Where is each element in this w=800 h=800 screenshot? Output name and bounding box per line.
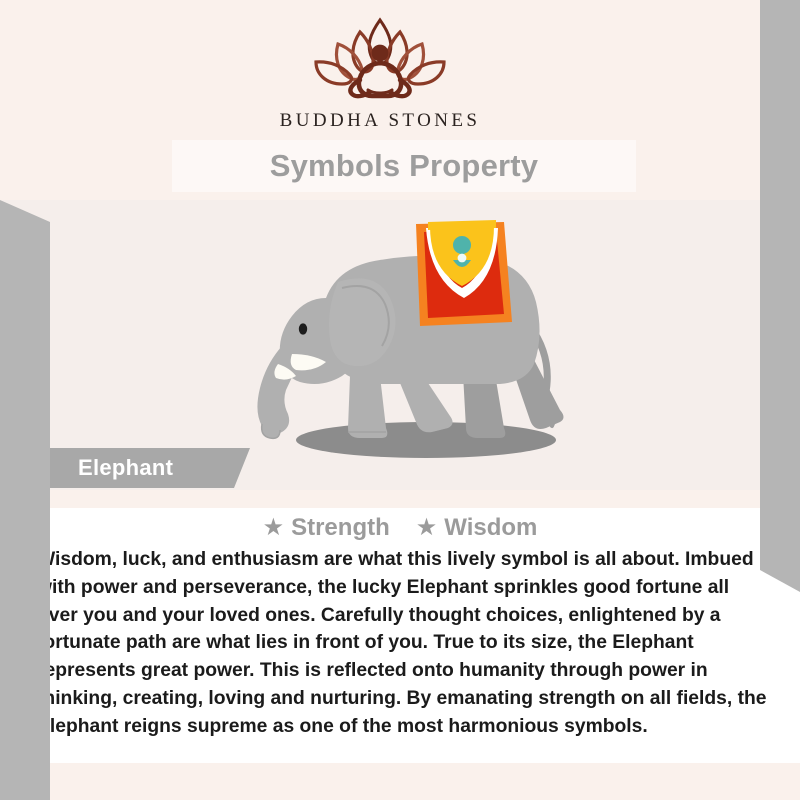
right-border-bar xyxy=(760,0,800,592)
separator-strip xyxy=(0,490,800,508)
trait-wisdom: ★ Wisdom xyxy=(416,514,538,542)
trait-label: Wisdom xyxy=(444,514,537,542)
description-panel: ★ Strength ★ Wisdom Wisdom, luck, and en… xyxy=(50,508,800,763)
trait-label: Strength xyxy=(291,514,390,542)
bottom-strip xyxy=(50,763,800,800)
header-panel: BUDDHA STONES Symbols Property xyxy=(0,0,760,200)
page-title: Symbols Property xyxy=(270,148,539,184)
elephant-eye xyxy=(299,323,307,334)
trait-strength: ★ Strength xyxy=(263,514,390,542)
left-border-bar xyxy=(0,200,50,800)
traits-row: ★ Strength ★ Wisdom xyxy=(50,514,750,542)
star-icon: ★ xyxy=(263,516,285,540)
elephant-illustration xyxy=(230,206,610,476)
illustration-panel xyxy=(0,200,760,490)
lotus-meditation-icon xyxy=(290,14,470,106)
symbol-label-text: Elephant xyxy=(78,455,173,481)
star-icon: ★ xyxy=(416,516,438,540)
description-text: Wisdom, luck, and enthusiasm are what th… xyxy=(37,546,770,740)
saddle-gem xyxy=(453,236,471,254)
brand-wordmark: BUDDHA STONES xyxy=(280,110,481,132)
elephant-saddle xyxy=(416,220,512,326)
page-title-band: Symbols Property xyxy=(172,140,636,192)
brand-logo-block: BUDDHA STONES xyxy=(0,14,760,132)
